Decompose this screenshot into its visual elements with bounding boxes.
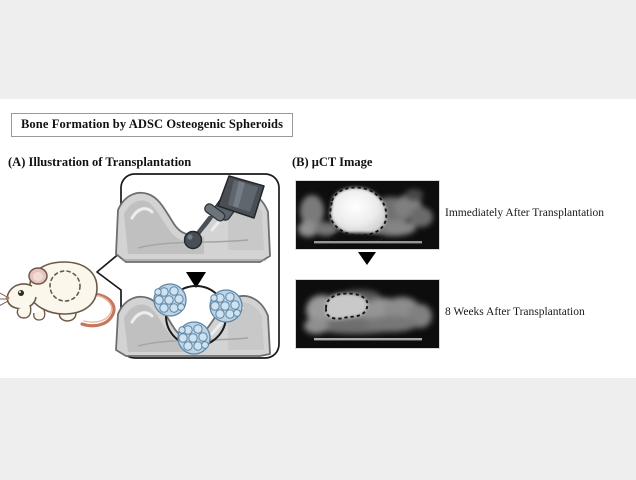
spheroid-cluster-left [154, 284, 186, 316]
spheroid-cluster-right [210, 290, 242, 322]
mouse-whiskers-icon [0, 292, 8, 306]
downward-time-arrow-icon [358, 252, 376, 265]
mouse-eye-icon [18, 290, 24, 296]
microct-scan-immediately-after [295, 180, 440, 250]
figure-root: Bone Formation by ADSC Osteogenic Sphero… [0, 0, 636, 480]
panel-a-heading: (A) Illustration of Transplantation [8, 155, 191, 170]
caption-8-weeks-after: 8 Weeks After Transplantation [445, 306, 585, 318]
callout-contents [108, 174, 280, 358]
caption-immediately-after: Immediately After Transplantation [445, 207, 604, 219]
figure-title-box: Bone Formation by ADSC Osteogenic Sphero… [11, 113, 293, 137]
panel-b-heading: (B) μCT Image [292, 155, 372, 170]
panel-a-illustration [0, 172, 285, 362]
panel-b-microct: Immediately After Transplantation [292, 176, 636, 362]
spheroid-cluster-bottom [178, 322, 210, 354]
microct-scan-8-weeks-after [295, 279, 440, 349]
mouse-head-icon [7, 284, 36, 309]
drill-ball-tip-icon [185, 232, 202, 249]
